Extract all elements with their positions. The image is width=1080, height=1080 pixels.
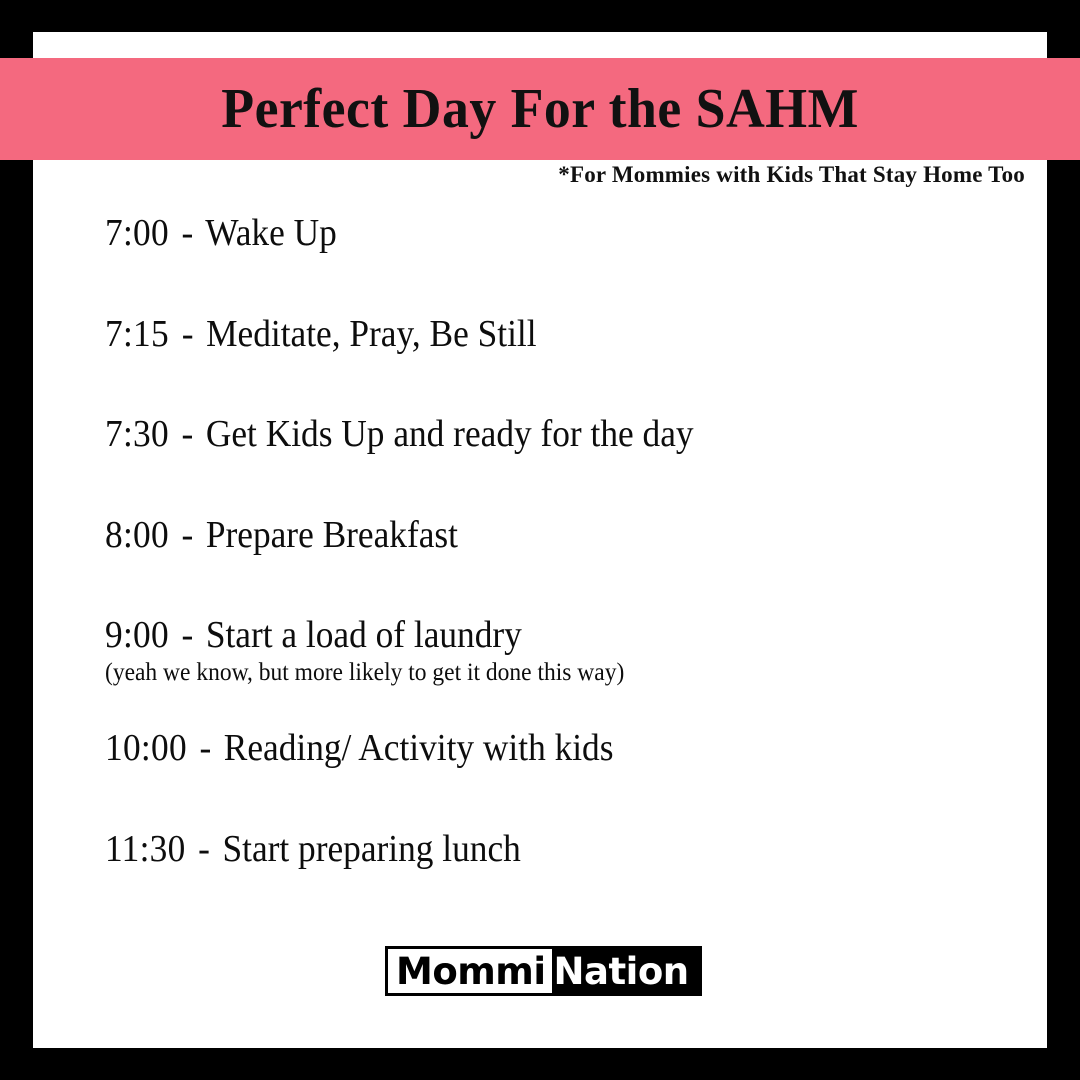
schedule-task: Start a load of laundry <box>206 614 522 656</box>
schedule-entry: 7:00 - Wake Up <box>105 212 923 255</box>
schedule-dash: - <box>196 727 215 769</box>
schedule-task: Wake Up <box>205 212 337 254</box>
schedule-time: 7:00 <box>105 212 169 254</box>
list-item: 7:15 - Meditate, Pray, Be Still <box>105 313 985 356</box>
schedule-time: 7:15 <box>105 313 178 355</box>
list-item: 8:00 - Prepare Breakfast <box>105 514 985 557</box>
logo-text-mommi: Mommi <box>396 953 546 990</box>
logo-left-block: Mommi <box>388 949 552 993</box>
schedule-dash: - <box>178 212 197 254</box>
schedule-entry: 7:15 - Meditate, Pray, Be Still <box>105 313 923 356</box>
poster-canvas: Perfect Day For the SAHM *For Mommies wi… <box>0 0 1080 1080</box>
schedule-time: 10:00 <box>105 727 187 769</box>
schedule-task: Get Kids Up and ready for the day <box>206 413 694 455</box>
schedule-entry: 9:00 - Start a load of laundry <box>105 614 923 657</box>
subtitle-note: *For Mommies with Kids That Stay Home To… <box>558 162 1025 188</box>
schedule-dash: - <box>178 313 197 355</box>
schedule-dash: - <box>194 828 213 870</box>
schedule-dash: - <box>178 514 197 556</box>
title-banner: Perfect Day For the SAHM <box>0 58 1080 160</box>
schedule-task: Prepare Breakfast <box>206 514 458 556</box>
page-title: Perfect Day For the SAHM <box>221 81 859 137</box>
schedule-dash: - <box>178 614 197 656</box>
list-item: 7:30 - Get Kids Up and ready for the day <box>105 413 985 456</box>
schedule-list: 7:00 - Wake Up 7:15 - Meditate, Pray, Be… <box>105 212 985 871</box>
schedule-task: Start preparing lunch <box>222 828 520 870</box>
schedule-entry: 10:00 - Reading/ Activity with kids <box>105 727 923 770</box>
logo-right-block: Nation <box>552 949 699 993</box>
schedule-entry: 8:00 - Prepare Breakfast <box>105 514 923 557</box>
list-item: 10:00 - Reading/ Activity with kids <box>105 727 985 770</box>
schedule-time: 9:00 <box>105 614 169 656</box>
schedule-task: Reading/ Activity with kids <box>224 727 614 769</box>
logo-text-nation: Nation <box>554 953 689 990</box>
schedule-task: Meditate, Pray, Be Still <box>206 313 536 355</box>
mommination-logo: Mommi Nation <box>385 946 702 996</box>
schedule-dash: - <box>178 413 197 455</box>
schedule-time: 8:00 <box>105 514 169 556</box>
list-item: 9:00 - Start a load of laundry (yeah we … <box>105 614 985 687</box>
schedule-entry: 11:30 - Start preparing lunch <box>105 828 923 871</box>
schedule-time: 11:30 <box>105 828 186 870</box>
list-item: 7:00 - Wake Up <box>105 212 985 255</box>
schedule-time: 7:30 <box>105 413 169 455</box>
list-item: 11:30 - Start preparing lunch <box>105 828 985 871</box>
schedule-note: (yeah we know, but more likely to get it… <box>105 659 932 688</box>
schedule-entry: 7:30 - Get Kids Up and ready for the day <box>105 413 923 456</box>
